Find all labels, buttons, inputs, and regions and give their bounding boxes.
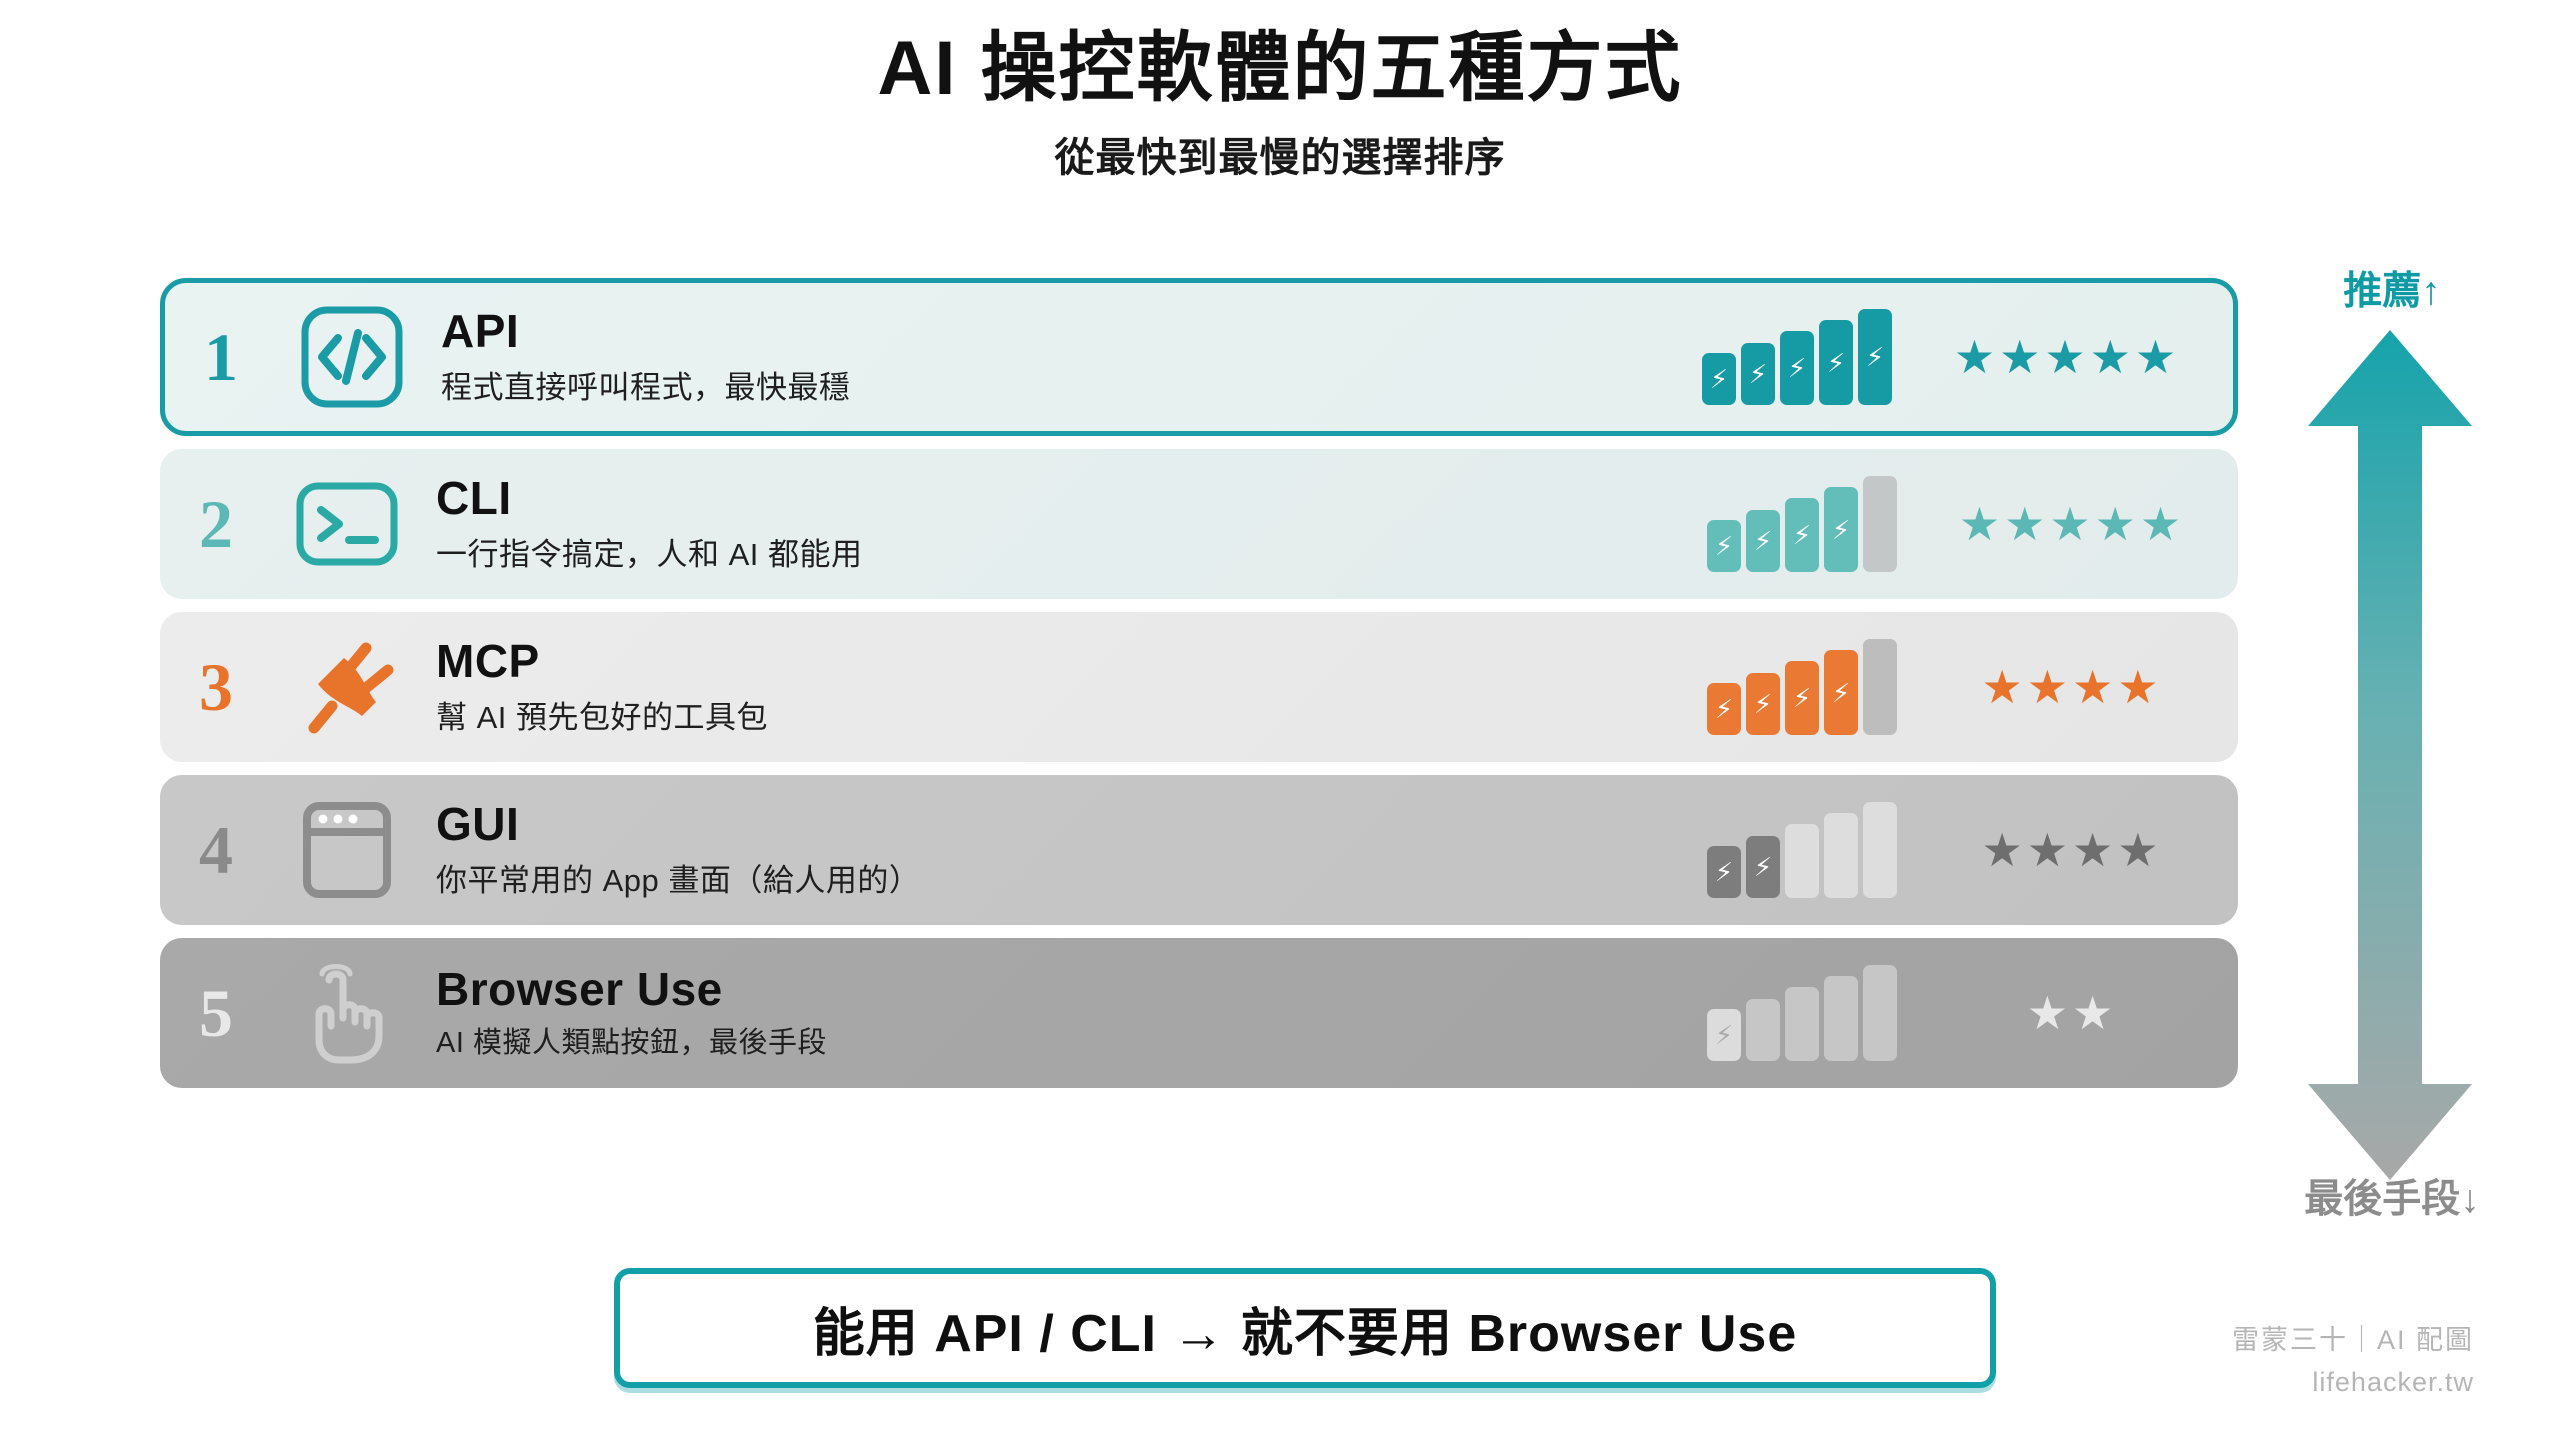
bolt-icon: ⚡ <box>1793 685 1811 711</box>
star-rating: ★★★★ <box>1922 660 2238 714</box>
speed-bar-filled: ⚡ <box>1746 510 1780 572</box>
list-item-api[interactable]: 1 API 程式直接呼叫程式，最快最穩 ⚡ ⚡ ⚡ ⚡ ⚡ ★★★★ <box>160 278 2238 436</box>
bolt-icon: ⚡ <box>1788 355 1806 381</box>
bolt-icon: ⚡ <box>1710 366 1728 392</box>
method-desc: 你平常用的 App 畫面（給人用的） <box>436 855 1707 900</box>
bolt-icon: ⚡ <box>1832 517 1850 543</box>
list-item-mcp[interactable]: 3 MCP 幫 AI 預先包好的工具包 ⚡ ⚡ ⚡ ⚡ <box>160 612 2238 762</box>
method-title: MCP <box>436 637 1707 685</box>
bolt-icon: ⚡ <box>1715 859 1733 885</box>
method-title: Browser Use <box>436 965 1707 1013</box>
speed-bar-empty <box>1863 639 1897 735</box>
speed-bar-empty <box>1824 813 1858 898</box>
scale-bottom-label: 最後手段↓ <box>2264 1168 2520 1224</box>
bolt-icon: ⚡ <box>1754 528 1772 554</box>
credit-block: 雷蒙三十｜AI 配圖 lifehacker.tw <box>2232 1318 2474 1398</box>
bolt-icon: ⚡ <box>1866 344 1884 370</box>
speed-meter: ⚡ ⚡ ⚡ ⚡ <box>1707 639 1922 735</box>
speed-bar-filled: ⚡ <box>1707 846 1741 898</box>
recommendation-scale: 推薦↑ 最後手段↓ <box>2272 268 2512 1218</box>
speed-meter: ⚡ ⚡ <box>1707 802 1922 898</box>
method-text: GUI 你平常用的 App 畫面（給人用的） <box>422 800 1707 899</box>
rank-number: 5 <box>160 974 272 1053</box>
speed-meter: ⚡ <box>1707 965 1922 1061</box>
star-rating: ★★★★ <box>1922 823 2238 877</box>
speed-bar-filled: ⚡ <box>1785 661 1819 735</box>
method-desc: 一行指令搞定，人和 AI 都能用 <box>436 529 1707 574</box>
scale-top-label: 推薦↑ <box>2272 260 2512 316</box>
bolt-icon: ⚡ <box>1715 1022 1733 1048</box>
rank-number: 3 <box>160 648 272 727</box>
speed-bar-empty <box>1863 802 1897 898</box>
bolt-icon: ⚡ <box>1827 350 1845 376</box>
page-title: AI 操控軟體的五種方式 <box>0 26 2560 111</box>
rank-number: 4 <box>160 811 272 890</box>
power-plug-icon <box>272 632 422 742</box>
star-rating: ★★★★★ <box>1917 330 2233 384</box>
speed-bar-filled: ⚡ <box>1824 650 1858 735</box>
app-window-icon <box>272 798 422 902</box>
header: AI 操控軟體的五種方式 從最快到最慢的選擇排序 <box>0 26 2560 183</box>
credit-site: lifehacker.tw <box>2232 1367 2474 1398</box>
speed-bar-filled: ⚡ <box>1746 836 1780 898</box>
speed-bar-empty <box>1746 999 1780 1061</box>
speed-bar-filled: ⚡ <box>1785 498 1819 572</box>
speed-bar-filled: ⚡ <box>1780 331 1814 405</box>
method-text: API 程式直接呼叫程式，最快最穩 <box>427 307 1702 406</box>
list-item-browser-use[interactable]: 5 Browser Use AI 模擬人類點按鈕，最後手段 ⚡ <box>160 938 2238 1088</box>
star-rating: ★★★★★ <box>1922 497 2238 551</box>
star-rating: ★★ <box>1922 986 2238 1040</box>
bolt-icon: ⚡ <box>1832 680 1850 706</box>
list-item-cli[interactable]: 2 CLI 一行指令搞定，人和 AI 都能用 ⚡ ⚡ ⚡ ⚡ ★★★★★ <box>160 449 2238 599</box>
rank-number: 2 <box>160 485 272 564</box>
bolt-icon: ⚡ <box>1754 854 1772 880</box>
rank-number: 1 <box>165 318 277 397</box>
speed-bar-filled: ⚡ <box>1819 320 1853 405</box>
speed-bar-empty <box>1785 824 1819 898</box>
bolt-icon: ⚡ <box>1754 691 1772 717</box>
speed-bar-filled: ⚡ <box>1707 520 1741 572</box>
list-item-gui[interactable]: 4 GUI 你平常用的 App 畫面（給人用的） ⚡ ⚡ <box>160 775 2238 925</box>
speed-bar-filled: ⚡ <box>1707 1009 1741 1061</box>
speed-bar-filled: ⚡ <box>1858 309 1892 405</box>
speed-meter: ⚡ ⚡ ⚡ ⚡ <box>1707 476 1922 572</box>
credit-author: 雷蒙三十｜AI 配圖 <box>2232 1318 2474 1357</box>
conclusion-text: 能用 API / CLI → 就不要用 Browser Use <box>813 1291 1798 1366</box>
speed-bar-filled: ⚡ <box>1741 343 1775 405</box>
page-subtitle: 從最快到最慢的選擇排序 <box>0 125 2560 183</box>
infographic-canvas: AI 操控軟體的五種方式 從最快到最慢的選擇排序 1 API 程式直接呼叫程式，… <box>0 0 2560 1429</box>
conclusion-banner: 能用 API / CLI → 就不要用 Browser Use <box>614 1268 1996 1388</box>
code-brackets-icon <box>277 305 427 409</box>
speed-bar-empty <box>1863 965 1897 1061</box>
speed-bar-filled: ⚡ <box>1824 487 1858 572</box>
method-text: CLI 一行指令搞定，人和 AI 都能用 <box>422 474 1707 573</box>
method-title: CLI <box>436 474 1707 522</box>
speed-bar-empty <box>1785 987 1819 1061</box>
method-desc: AI 模擬人類點按鈕，最後手段 <box>436 1019 1707 1061</box>
method-desc: 程式直接呼叫程式，最快最穩 <box>441 362 1702 407</box>
method-desc: 幫 AI 預先包好的工具包 <box>436 692 1707 737</box>
method-title: API <box>441 307 1702 355</box>
speed-bar-filled: ⚡ <box>1746 673 1780 735</box>
speed-bar-empty <box>1824 976 1858 1061</box>
method-list: 1 API 程式直接呼叫程式，最快最穩 ⚡ ⚡ ⚡ ⚡ ⚡ ★★★★ <box>160 278 2238 1101</box>
bolt-icon: ⚡ <box>1715 696 1733 722</box>
speed-bar-filled: ⚡ <box>1707 683 1741 735</box>
method-title: GUI <box>436 800 1707 848</box>
terminal-prompt-icon <box>272 472 422 576</box>
bolt-icon: ⚡ <box>1749 361 1767 387</box>
speed-bar-empty <box>1863 476 1897 572</box>
method-text: MCP 幫 AI 預先包好的工具包 <box>422 637 1707 736</box>
bolt-icon: ⚡ <box>1793 522 1811 548</box>
bolt-icon: ⚡ <box>1715 533 1733 559</box>
double-arrow-icon <box>2300 330 2480 1180</box>
method-text: Browser Use AI 模擬人類點按鈕，最後手段 <box>422 965 1707 1061</box>
speed-meter: ⚡ ⚡ ⚡ ⚡ ⚡ <box>1702 309 1917 405</box>
speed-bar-filled: ⚡ <box>1702 353 1736 405</box>
pointing-hand-click-icon <box>272 958 422 1068</box>
